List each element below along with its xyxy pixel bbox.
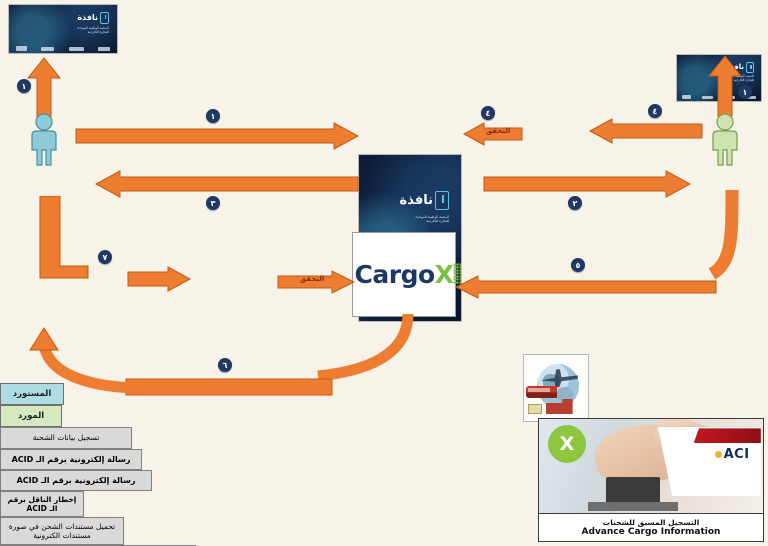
badge-step-1-right: ١ <box>738 85 752 99</box>
nafeza-logo-icon <box>435 191 449 210</box>
aci-abbr: ACI <box>724 447 750 462</box>
arrow-bottom-curve-up-to-importer <box>24 318 156 398</box>
cargox-x: X <box>435 260 454 289</box>
aci-dot-icon <box>715 451 722 458</box>
label-verify-left: التحقق <box>486 127 510 135</box>
cargox-x-letter: X <box>560 433 575 455</box>
aci-caption: التسجيل المسبق للشحنات Advance Cargo Inf… <box>539 513 763 541</box>
nafeza-tagline-small: المنصة الوطنية الموحدة للتجارة الخارجية <box>415 215 449 224</box>
label-notify-carrier-text: إخطار الناقل برقم الـ ACID <box>4 495 80 514</box>
aci-caption-arabic: التسجيل المسبق للشحنات <box>603 518 700 527</box>
nafeza-brand-text: نافذة <box>400 193 433 208</box>
aci-footer-card: ACI X التسجيل المسبق للشحنات Advance Car… <box>538 418 764 542</box>
badge-step-5: ٥ <box>571 258 585 272</box>
badge-step-1-register: ١ <box>206 109 220 123</box>
cargox-wordmark: CargoX <box>355 260 454 289</box>
arrow-notify-importer <box>126 374 332 400</box>
arrow-importer-to-nafeza <box>26 56 62 118</box>
diagram-canvas: نافذة المنصة الوطنية الموحدة للتجارة الخ… <box>0 0 768 546</box>
nafeza-logo-icon <box>746 62 754 73</box>
arrow-notify-carrier <box>590 118 702 144</box>
nafeza-logo-icon <box>100 12 109 24</box>
aci-caption-english: Advance Cargo Information <box>582 527 721 537</box>
label-upload-docs: تحميل مستندات الشحن في صورة مستندات الكت… <box>0 517 124 545</box>
aci-stamp-photo: ACI X <box>539 419 763 513</box>
label-notify-carrier: إخطار الناقل برقم الـ ACID <box>0 491 84 517</box>
badge-step-1-left: ١ <box>17 79 31 93</box>
arrow-supplier-to-nafeza <box>707 54 743 116</box>
label-register-shipment: تسجيل بيانات الشحنة <box>0 427 132 449</box>
badge-step-4-verify: ٤ <box>481 106 495 120</box>
stamp-base <box>588 502 678 511</box>
arrow-register-shipment <box>76 122 358 150</box>
nafeza-partner-logos <box>9 46 117 51</box>
document-graphic <box>528 404 542 415</box>
actor-supplier[interactable]: المورد <box>0 405 62 427</box>
label-email-acid-right: رسالة إلكترونية برقم الـ ACID <box>0 470 152 491</box>
red-band <box>694 428 761 443</box>
badge-step-3: ٣ <box>206 196 220 210</box>
cargox-card: CargoX <box>352 232 456 317</box>
aci-text: ACI <box>715 447 750 462</box>
label-email-acid-left-text: رسالة إلكترونية برقم الـ ACID <box>12 455 131 465</box>
importer-person-icon <box>24 113 64 167</box>
badge-step-7: ٧ <box>98 250 112 264</box>
badge-step-6: ٦ <box>218 358 232 372</box>
badge-step-4-carrier: ٤ <box>648 104 662 118</box>
supplier-person-icon <box>705 113 745 167</box>
train-graphic <box>526 386 557 398</box>
logistics-transport-image <box>523 354 589 422</box>
nafeza-banner-left-image: نافذة المنصة الوطنية الموحدة للتجارة الخ… <box>8 4 118 54</box>
arrow-customs-to-ship <box>128 266 190 292</box>
label-verify-right: التحقق <box>300 275 324 283</box>
badge-step-2: ٢ <box>568 196 582 210</box>
arrow-supplier-curve-down <box>640 190 760 290</box>
label-upload-docs-text: تحميل مستندات الشحن في صورة مستندات الكت… <box>9 522 115 541</box>
actor-supplier-label: المورد <box>18 411 44 421</box>
cargox-x-badge-icon: X <box>548 425 586 463</box>
label-email-acid-left: رسالة إلكترونية برقم الـ ACID <box>0 449 142 470</box>
nafeza-tagline: المنصة الوطنية الموحدة للتجارة الخارجية <box>78 26 110 34</box>
cargox-name: Cargo <box>355 260 435 289</box>
nafeza-brand-text: نافذة <box>77 13 98 22</box>
label-email-acid-right-text: رسالة إلكترونية برقم الـ ACID <box>17 476 136 486</box>
label-register-shipment-text: تسجيل بيانات الشحنة <box>33 433 100 442</box>
arrow-email-acid-left <box>96 170 358 198</box>
stamp-graphic <box>606 477 660 501</box>
